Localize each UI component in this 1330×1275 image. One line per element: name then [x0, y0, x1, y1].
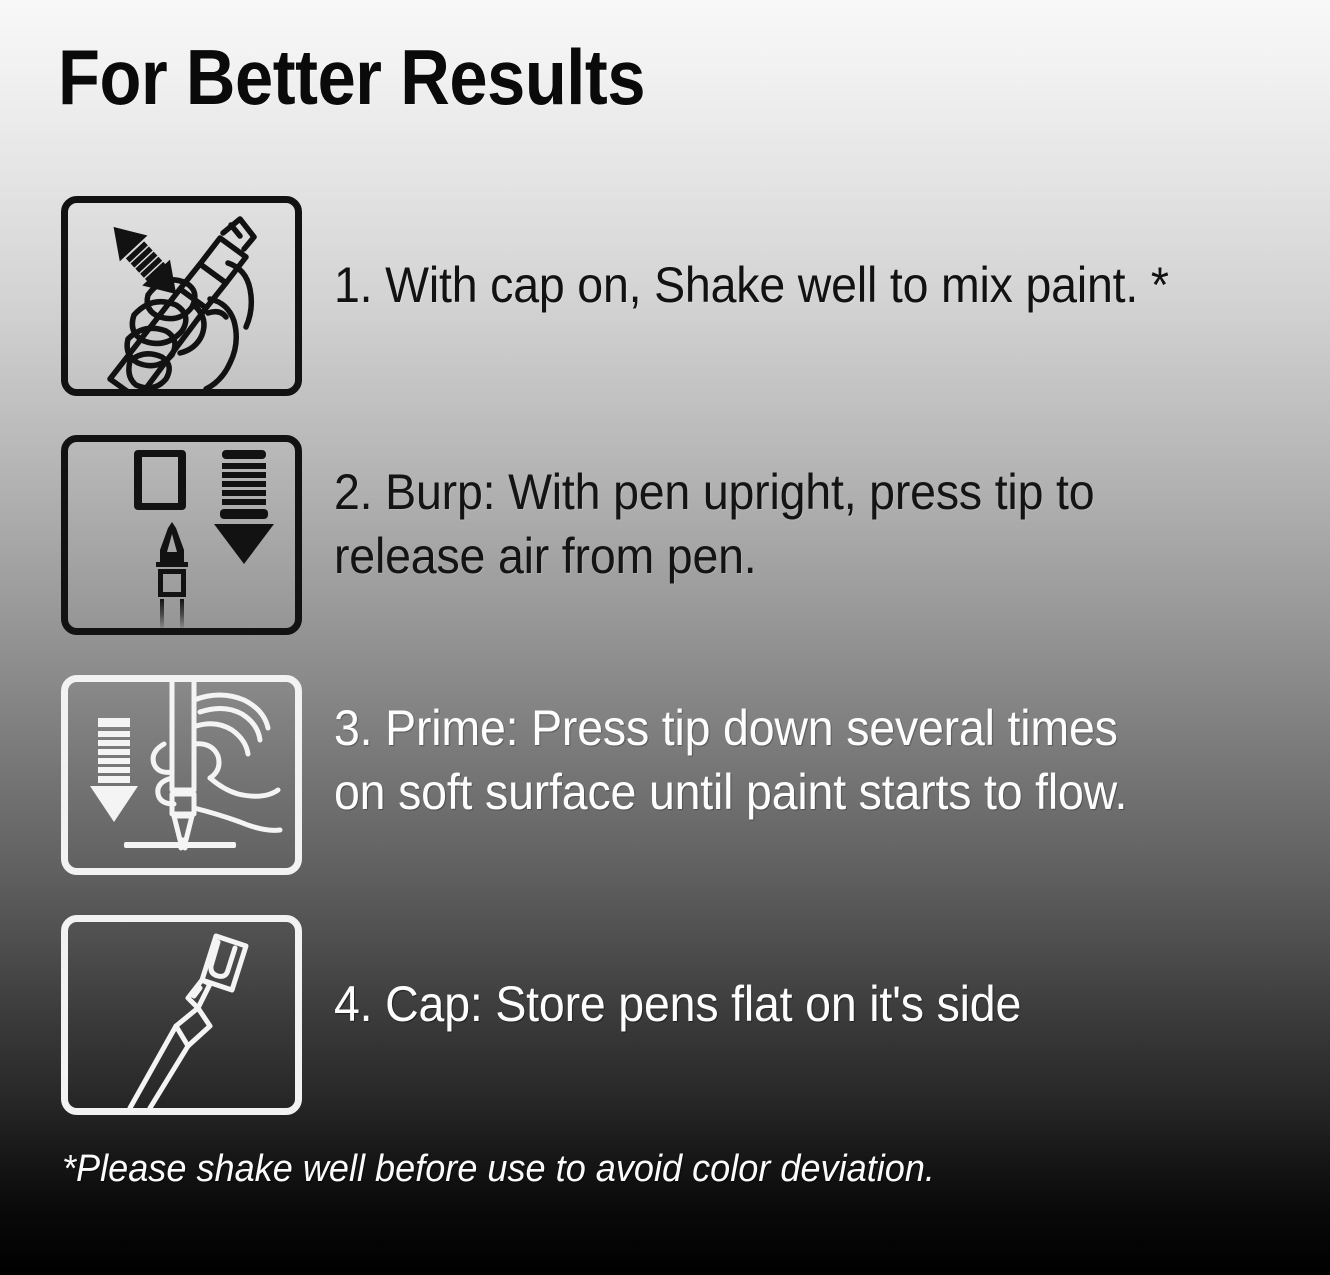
cap-store-flat-icon	[61, 915, 302, 1115]
step-row-1: 1. With cap on, Shake well to mix paint.…	[0, 195, 1330, 397]
step-4-text: 4. Cap: Store pens flat on it's side	[334, 972, 1218, 1036]
step-row-3: 3. Prime: Press tip down several times o…	[0, 674, 1330, 876]
shake-pen-icon	[61, 196, 302, 396]
step-row-2: 2. Burp: With pen upright, press tip to …	[0, 434, 1330, 636]
step-3-text: 3. Prime: Press tip down several times o…	[334, 696, 1218, 824]
footnote-text: *Please shake well before use to avoid c…	[62, 1148, 935, 1191]
page-title: For Better Results	[58, 38, 645, 116]
burp-pen-upright-icon	[61, 435, 302, 635]
instruction-card: For Better Results	[0, 0, 1330, 1275]
step-1-text: 1. With cap on, Shake well to mix paint.…	[334, 253, 1218, 317]
prime-press-tip-icon	[61, 675, 302, 875]
step-row-4: 4. Cap: Store pens flat on it's side	[0, 914, 1330, 1116]
step-2-text: 2. Burp: With pen upright, press tip to …	[334, 460, 1218, 588]
